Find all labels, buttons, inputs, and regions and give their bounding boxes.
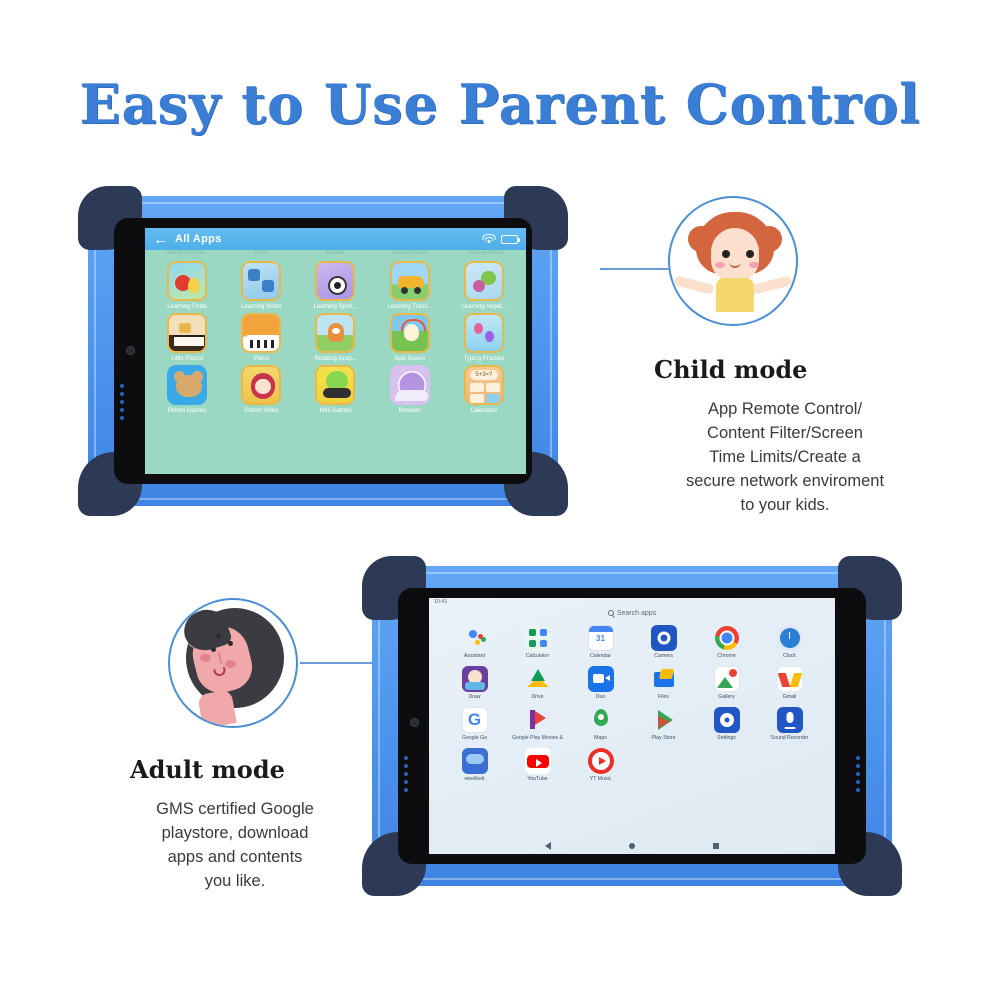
kids-screen-title: All Apps — [175, 233, 222, 245]
child-arm-left — [673, 275, 714, 294]
product-feature-page: Easy to Use Parent Control ← All Apps Ho… — [0, 0, 1000, 1000]
app-label: Typing Practice — [447, 355, 521, 362]
battery-icon — [501, 235, 518, 244]
app-icon — [167, 261, 207, 301]
app-label: Calendar — [569, 653, 632, 659]
android-app-tile[interactable]: Sound Recorder — [758, 707, 821, 741]
cut-label: Color — [224, 250, 297, 259]
kids-status-bar: ← All Apps — [145, 228, 526, 250]
app-icon — [588, 748, 614, 774]
app-icon — [651, 707, 677, 733]
app-icon — [464, 365, 504, 405]
app-icon — [525, 666, 551, 692]
app-label: YT Music — [569, 776, 632, 782]
adult-mode-body: GMS certified Google playstore, download… — [110, 798, 360, 894]
app-icon — [651, 625, 677, 651]
kids-app-tile[interactable]: Piano — [224, 313, 298, 362]
android-app-tile[interactable]: Calculator — [506, 625, 569, 659]
app-label: Drive — [506, 694, 569, 700]
search-apps-bar[interactable]: Search apps — [429, 608, 835, 617]
android-app-tile[interactable]: Assistant — [443, 625, 506, 659]
app-label: Mini Games — [298, 407, 372, 414]
kids-app-tile[interactable]: Learning Veget... — [447, 261, 521, 310]
adult-body-line: playstore, download — [110, 822, 360, 846]
status-icons — [482, 234, 518, 245]
android-app-tile[interactable]: YouTube — [506, 748, 569, 782]
child-body-line: secure network enviroment — [640, 470, 930, 494]
app-label: Settings — [695, 735, 758, 741]
child-cheek-left — [715, 262, 725, 268]
app-icon — [462, 748, 488, 774]
adult-neck — [197, 689, 236, 728]
adult-body-line: apps and contents — [110, 846, 360, 870]
app-icon — [462, 666, 488, 692]
android-app-tile[interactable]: Clock — [758, 625, 821, 659]
android-app-tile[interactable]: Gmail — [758, 666, 821, 700]
app-icon — [390, 365, 430, 405]
app-icon — [464, 261, 504, 301]
search-placeholder: Search apps — [617, 610, 656, 617]
app-label: Rotating Grap... — [298, 355, 372, 362]
cut-label: Learning Animal — [374, 250, 447, 259]
kids-app-tile[interactable]: Learning Notes — [224, 261, 298, 310]
kids-app-tile[interactable]: Mini Games — [298, 365, 372, 414]
kids-tablet: ← All Apps Hour Body Organ Color Emotion… — [88, 196, 558, 506]
cut-label: Emotion — [299, 250, 372, 259]
back-arrow-icon[interactable]: ← — [153, 232, 168, 247]
app-label: Gmail — [758, 694, 821, 700]
adult-mode-heading: Adult mode — [130, 755, 285, 784]
app-label: Gallery — [695, 694, 758, 700]
app-icon — [315, 313, 355, 353]
app-icon — [525, 625, 551, 651]
child-mode-body: App Remote Control/ Content Filter/Scree… — [640, 398, 930, 518]
app-label: YouTube — [506, 776, 569, 782]
app-label: Maps — [569, 735, 632, 741]
app-icon — [167, 313, 207, 353]
adult-eye-left — [211, 647, 216, 652]
search-icon — [608, 610, 614, 616]
speaker-grille — [120, 384, 124, 420]
app-label: Learning Notes — [224, 303, 298, 310]
app-icon — [167, 365, 207, 405]
child-shirt — [716, 278, 754, 312]
app-label: Learning Trans... — [373, 303, 447, 310]
kids-app-tile[interactable]: Calculator — [447, 365, 521, 414]
app-icon — [588, 707, 614, 733]
kids-screen-footer — [145, 414, 526, 422]
android-app-tile[interactable]: Camera — [632, 625, 695, 659]
recents-button[interactable] — [713, 843, 719, 849]
kids-app-tile[interactable]: Learning Fruits — [150, 261, 224, 310]
speaker-grille-right — [856, 756, 860, 792]
app-label: Piano — [224, 355, 298, 362]
android-app-tile[interactable]: Files — [632, 666, 695, 700]
app-label: Learning Sport... — [298, 303, 372, 310]
kids-screen: ← All Apps Hour Body Organ Color Emotion… — [145, 228, 526, 474]
front-camera-icon — [126, 346, 135, 355]
app-icon — [714, 625, 740, 651]
child-eye-right — [746, 250, 754, 258]
child-avatar — [668, 196, 798, 326]
android-status-bar: 10:41 — [429, 598, 835, 608]
app-icon — [462, 707, 488, 733]
app-label: Learning Fruits — [150, 303, 224, 310]
android-nav-bar — [429, 838, 835, 854]
app-icon — [714, 666, 740, 692]
app-label: Pritom Games — [150, 407, 224, 414]
kids-app-tile[interactable]: Typing Practice — [447, 313, 521, 362]
app-icon — [462, 625, 488, 651]
kids-app-tile[interactable]: Rotating Grap... — [298, 313, 372, 362]
page-title: Easy to Use Parent Control — [0, 72, 1000, 136]
app-label: Files — [632, 694, 695, 700]
back-button[interactable] — [545, 842, 551, 850]
app-label: Learning Veget... — [447, 303, 521, 310]
app-icon — [777, 625, 803, 651]
adult-cheek-right — [225, 660, 236, 668]
kids-app-tile[interactable]: Learning Sport... — [298, 261, 372, 310]
app-label: Google Play Movies & — [506, 735, 569, 741]
app-icon — [390, 313, 430, 353]
app-label: weelikeit — [443, 776, 506, 782]
app-label: Camera — [632, 653, 695, 659]
android-app-tile[interactable]: Maps — [569, 707, 632, 741]
kids-app-tile[interactable]: Learning Trans... — [373, 261, 447, 310]
child-arm-right — [751, 275, 792, 294]
app-label: Browser — [373, 407, 447, 414]
app-label: Clock — [758, 653, 821, 659]
app-icon — [588, 625, 614, 651]
android-app-tile[interactable]: Google Go — [443, 707, 506, 741]
child-body-line: App Remote Control/ — [640, 398, 930, 422]
app-icon — [390, 261, 430, 301]
adult-screen: 10:41 Search apps AssistantCalculatorCal… — [429, 598, 835, 854]
app-icon — [315, 365, 355, 405]
android-app-tile[interactable]: Calendar — [569, 625, 632, 659]
kids-app-tile[interactable]: Pritom Games — [150, 365, 224, 414]
app-icon — [777, 707, 803, 733]
speaker-grille — [404, 756, 408, 792]
kids-app-tile[interactable]: Little Pianist — [150, 313, 224, 362]
app-label: Spin Guess — [373, 355, 447, 362]
home-button[interactable] — [629, 843, 635, 849]
app-label: Little Pianist — [150, 355, 224, 362]
app-label: Chrome — [695, 653, 758, 659]
app-label: Assistant — [443, 653, 506, 659]
connector-line-adult — [300, 662, 372, 664]
adult-body-line: you like. — [110, 870, 360, 894]
child-body-line: Content Filter/Screen — [640, 422, 930, 446]
adult-body-line: GMS certified Google — [110, 798, 360, 822]
cut-label: Hour Body Organ — [149, 250, 222, 259]
app-label: Sound Recorder — [758, 735, 821, 741]
app-icon — [777, 666, 803, 692]
front-camera-icon — [410, 718, 419, 727]
child-body-line: to your kids. — [640, 494, 930, 518]
app-label: Calculator — [506, 653, 569, 659]
app-label: Draw — [443, 694, 506, 700]
android-app-tile[interactable]: Settings — [695, 707, 758, 741]
app-label: Pritom Video — [224, 407, 298, 414]
child-mode-heading: Child mode — [654, 355, 807, 384]
android-app-tile[interactable]: Gallery — [695, 666, 758, 700]
kids-app-tile[interactable]: Pritom Video — [224, 365, 298, 414]
app-icon — [651, 666, 677, 692]
android-app-tile[interactable]: Google Play Movies & — [506, 707, 569, 741]
child-body-line: Time Limits/Create a — [640, 446, 930, 470]
kids-app-tile[interactable]: Spin Guess — [373, 313, 447, 362]
adult-eye-right — [228, 641, 233, 646]
app-icon — [588, 666, 614, 692]
kids-app-grid: Learning FruitsLearning NotesLearning Sp… — [145, 259, 526, 414]
app-icon — [464, 313, 504, 353]
android-app-tile[interactable]: weelikeit — [443, 748, 506, 782]
app-label: Google Go — [443, 735, 506, 741]
adult-brow-dot — [216, 634, 221, 639]
app-label: Play Store — [632, 735, 695, 741]
wifi-icon — [482, 234, 495, 245]
app-label: Duo — [569, 694, 632, 700]
adult-cheek-left — [200, 654, 211, 662]
android-app-tile[interactable]: Play Store — [632, 707, 695, 741]
app-label: Calculator — [447, 407, 521, 414]
app-icon — [714, 707, 740, 733]
android-app-tile[interactable]: Draw — [443, 666, 506, 700]
app-icon — [315, 261, 355, 301]
kids-app-tile[interactable]: Browser — [373, 365, 447, 414]
child-eye-left — [722, 250, 730, 258]
connector-line-child — [600, 268, 670, 270]
adult-tablet: 10:41 Search apps AssistantCalculatorCal… — [372, 566, 892, 886]
android-app-grid: AssistantCalculatorCalendarCameraChromeC… — [429, 617, 835, 782]
app-icon — [241, 261, 281, 301]
app-icon — [241, 313, 281, 353]
app-icon — [525, 707, 551, 733]
child-cheek-right — [749, 262, 759, 268]
android-app-tile[interactable]: YT Music — [569, 748, 632, 782]
adult-avatar — [168, 598, 298, 728]
app-icon — [525, 748, 551, 774]
android-app-tile[interactable]: Chrome — [695, 625, 758, 659]
android-app-tile[interactable]: Duo — [569, 666, 632, 700]
cut-off-app-row: Hour Body Organ Color Emotion Learning A… — [145, 250, 526, 259]
app-icon — [241, 365, 281, 405]
cut-label: Learning Shapes — [449, 250, 522, 259]
android-app-tile[interactable]: Drive — [506, 666, 569, 700]
